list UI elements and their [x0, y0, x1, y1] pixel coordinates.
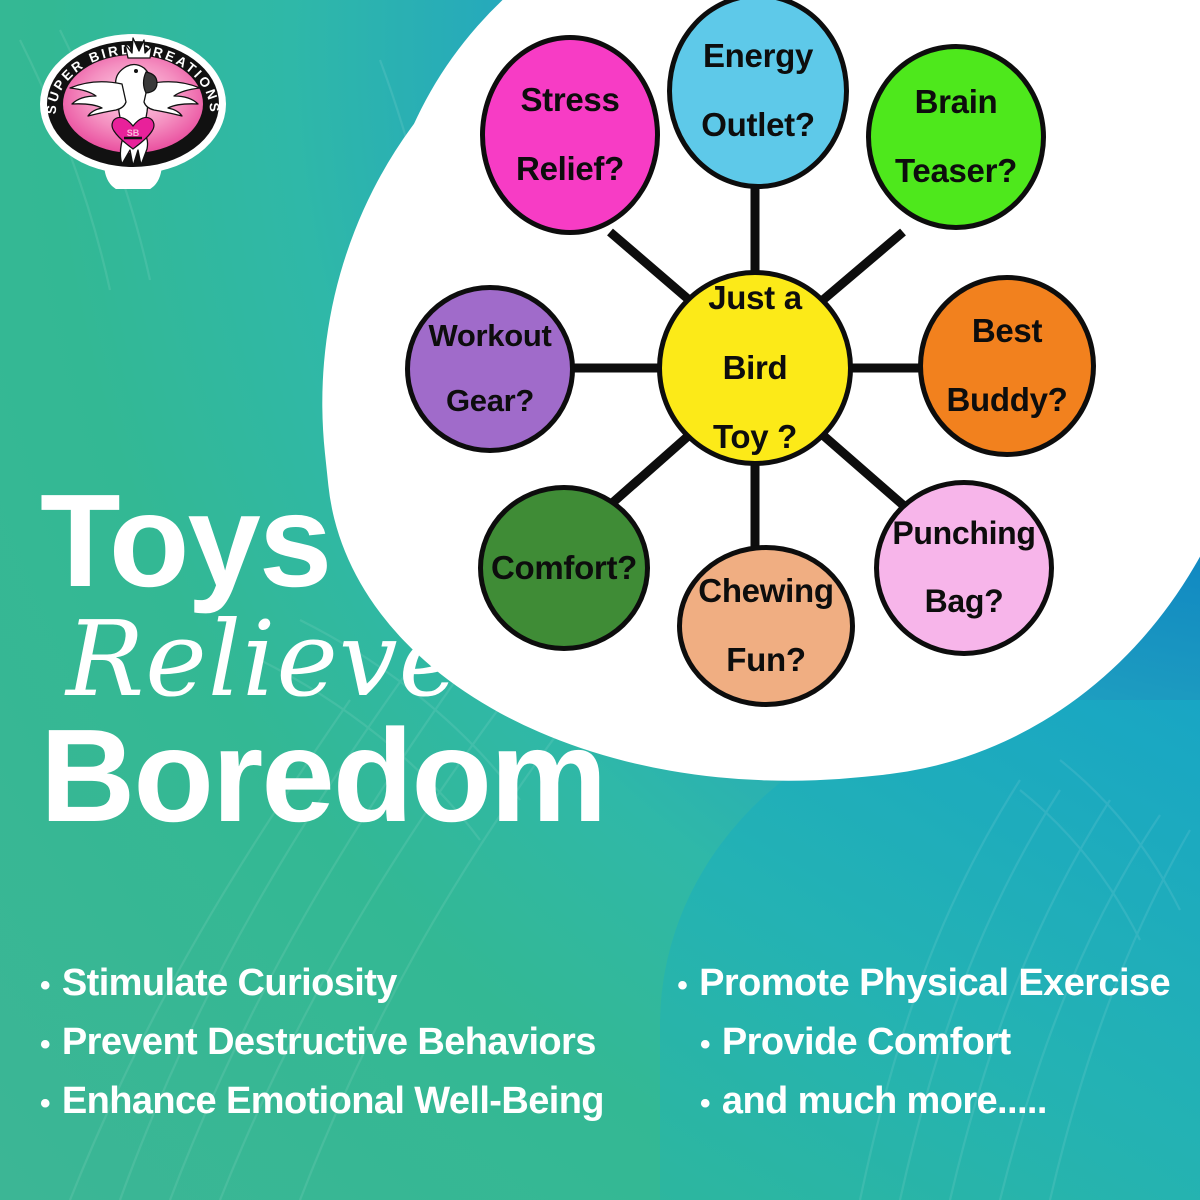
bullet-dot-icon: •	[700, 1030, 710, 1060]
bullet-dot-icon: •	[40, 1030, 50, 1060]
headline-block: Toys Relieve Boredom	[40, 480, 720, 840]
node-brain-teaser-line2: Teaser?	[889, 154, 1023, 189]
node-best-buddy-line1: Best	[940, 314, 1073, 349]
node-center-line3: Toy ?	[702, 420, 808, 455]
benefit-item-stimulate-curiosity: • Stimulate Curiosity	[40, 962, 677, 1005]
benefit-item-prevent-destructive-behaviors: • Prevent Destructive Behaviors	[40, 1021, 700, 1064]
benefit-label: and much more.....	[722, 1080, 1047, 1123]
headline-line-toys: Toys	[40, 480, 720, 601]
benefit-item-promote-physical-exercise: • Promote Physical Exercise	[677, 962, 1170, 1005]
node-punching-bag[interactable]: Punching Bag?	[874, 480, 1054, 656]
node-brain-teaser[interactable]: Brain Teaser?	[866, 44, 1046, 230]
node-stress-relief-line2: Relief?	[510, 152, 630, 187]
node-energy-outlet-line1: Energy	[695, 39, 820, 74]
benefit-label: Promote Physical Exercise	[699, 962, 1170, 1005]
benefits-row: • Stimulate Curiosity • Promote Physical…	[40, 962, 1170, 1005]
node-punching-bag-line1: Punching	[886, 517, 1041, 551]
node-workout-gear-line2: Gear?	[422, 385, 557, 418]
node-workout-gear[interactable]: Workout Gear?	[405, 285, 575, 453]
node-best-buddy-line2: Buddy?	[940, 383, 1073, 418]
bullet-dot-icon: •	[40, 1089, 50, 1119]
node-brain-teaser-line1: Brain	[889, 85, 1023, 120]
benefit-label: Provide Comfort	[722, 1021, 1011, 1064]
logo-monogram: SB	[127, 128, 140, 138]
node-best-buddy[interactable]: Best Buddy?	[918, 275, 1096, 457]
node-stress-relief-line1: Stress	[510, 83, 630, 118]
node-energy-outlet[interactable]: Energy Outlet?	[667, 0, 849, 189]
benefit-item-enhance-emotional-well-being: • Enhance Emotional Well-Being	[40, 1080, 700, 1123]
headline-line-boredom: Boredom	[40, 713, 720, 840]
benefit-label: Stimulate Curiosity	[62, 962, 397, 1005]
benefit-item-provide-comfort: • Provide Comfort	[700, 1021, 1011, 1064]
node-center-line1: Just a	[702, 281, 808, 316]
node-energy-outlet-line2: Outlet?	[695, 108, 820, 143]
bullet-dot-icon: •	[700, 1089, 710, 1119]
bullet-dot-icon: •	[677, 971, 687, 1001]
node-punching-bag-line2: Bag?	[886, 585, 1041, 619]
bullet-dot-icon: •	[40, 971, 50, 1001]
benefit-label: Enhance Emotional Well-Being	[62, 1080, 604, 1123]
node-workout-gear-line1: Workout	[422, 320, 557, 353]
benefit-item-and-much-more: • and much more.....	[700, 1080, 1047, 1123]
benefits-row: • Prevent Destructive Behaviors • Provid…	[40, 1021, 1170, 1064]
poster-canvas: SUPER BIRD CREATIONS SB	[0, 0, 1200, 1200]
benefit-label: Prevent Destructive Behaviors	[62, 1021, 596, 1064]
node-just-a-bird-toy[interactable]: Just a Bird Toy ?	[657, 270, 853, 466]
node-stress-relief[interactable]: Stress Relief?	[480, 35, 660, 235]
bird-logo: SUPER BIRD CREATIONS SB	[28, 24, 238, 189]
node-center-line2: Bird	[702, 351, 808, 386]
headline-line-relieve: Relieve	[66, 607, 720, 711]
benefits-row: • Enhance Emotional Well-Being • and muc…	[40, 1080, 1170, 1123]
benefits-list: • Stimulate Curiosity • Promote Physical…	[40, 962, 1170, 1139]
